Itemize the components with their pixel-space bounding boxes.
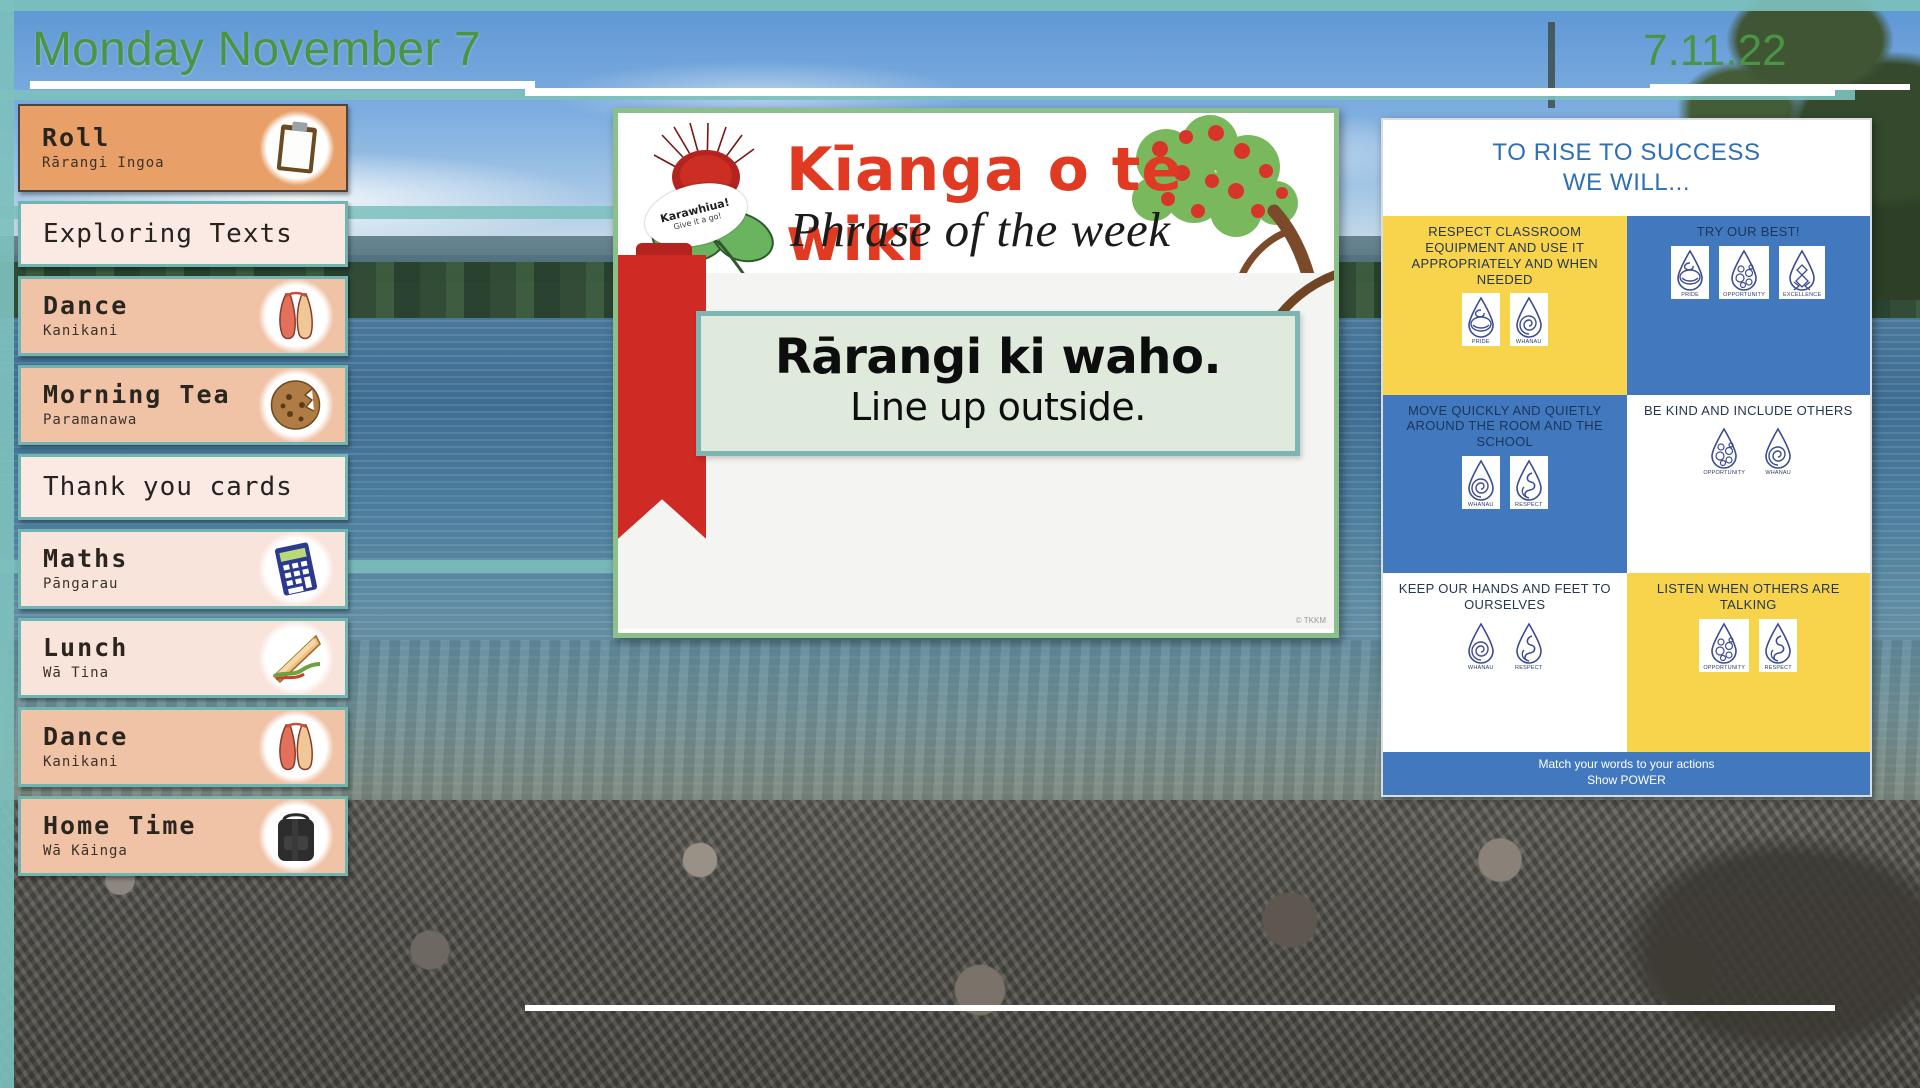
- droplet-value-label: WHANAU: [1516, 339, 1542, 345]
- slide-title-english: Phrase of the week: [790, 201, 1170, 258]
- schedule-item-label-maori: Paramanawa: [43, 412, 253, 428]
- poster-expectation-cell: RESPECT CLASSROOM EQUIPMENT AND USE IT A…: [1383, 216, 1627, 395]
- page-title-date-long: Monday November 7: [32, 22, 481, 77]
- droplet-value-label: RESPECT: [1515, 665, 1542, 671]
- schedule-item-label-english: Maths: [43, 546, 253, 572]
- poster-expectation-cell: KEEP OUR HANDS AND FEET TO OURSELVESWHAN…: [1383, 573, 1627, 752]
- poster-heading-line-2: WE WILL...: [1563, 168, 1690, 198]
- schedule-item-label: Exploring Texts: [21, 207, 303, 261]
- slide-body: Rārangi ki waho. Line up outside. © TKKM: [618, 273, 1334, 629]
- schedule-item-label-maori: Wā Tina: [43, 665, 253, 681]
- divider-title-underline: [30, 81, 535, 89]
- whanau-droplet-icon: WHANAU: [1510, 293, 1548, 346]
- frame-strip-left: [0, 0, 14, 1088]
- poster-footer-line-1: Match your words to your actions: [1383, 756, 1870, 772]
- respect-droplet-icon: RESPECT: [1759, 619, 1797, 672]
- pride-droplet-icon: PRIDE: [1671, 246, 1709, 299]
- red-banner-decoration: [618, 255, 706, 585]
- phrase-english: Line up outside.: [713, 387, 1283, 429]
- header-date-numeric: 7.11.22: [1643, 26, 1787, 76]
- poster-expectation-grid: RESPECT CLASSROOM EQUIPMENT AND USE IT A…: [1383, 216, 1870, 752]
- calculator-icon: [259, 532, 333, 606]
- schedule-item-thank-you-cards[interactable]: Thank you cards: [18, 454, 348, 520]
- schedule-item-text: DanceKanikani: [21, 283, 259, 348]
- droplet-value-label: PRIDE: [1681, 292, 1699, 298]
- poster-expectation-cell: LISTEN WHEN OTHERS ARE TALKINGOPPORTUNIT…: [1627, 573, 1871, 752]
- divider-top: [525, 88, 1835, 96]
- poster-footer: Match your words to your actions Show PO…: [1383, 752, 1870, 795]
- droplet-value-label: EXCELLENCE: [1783, 292, 1821, 298]
- daily-schedule-list: RollRārangi IngoaExploring TextsDanceKan…: [18, 104, 348, 885]
- poster-footer-line-2: Show POWER: [1383, 772, 1870, 788]
- schedule-item-label-maori: Kanikani: [43, 754, 253, 770]
- schedule-item-maths[interactable]: MathsPāngarau: [18, 529, 348, 609]
- whanau-droplet-icon: WHANAU: [1759, 424, 1797, 477]
- clipboard-icon: [260, 111, 334, 185]
- droplet-value-label: OPPORTUNITY: [1703, 665, 1745, 671]
- droplet-value-label: RESPECT: [1515, 502, 1542, 508]
- divider-date-underline: [1650, 84, 1910, 90]
- schedule-item-dance[interactable]: DanceKanikani: [18, 276, 348, 356]
- schedule-item-label-english: Dance: [43, 293, 253, 319]
- schedule-item-text: DanceKanikani: [21, 714, 259, 779]
- droplet-value-label: OPPORTUNITY: [1703, 470, 1745, 476]
- phrase-display-box: Rārangi ki waho. Line up outside.: [696, 311, 1300, 456]
- schedule-item-label-english: Lunch: [43, 635, 253, 661]
- schedule-item-label-maori: Pāngarau: [43, 576, 253, 592]
- schedule-item-text: RollRārangi Ingoa: [20, 115, 260, 180]
- schedule-item-label-maori: Rārangi Ingoa: [42, 155, 254, 171]
- opportunity-droplet-icon: OPPORTUNITY: [1699, 619, 1749, 672]
- schedule-item-text: Morning TeaParamanawa: [21, 372, 259, 437]
- sandwich-icon: [259, 621, 333, 695]
- poster-expectation-cell: MOVE QUICKLY AND QUIETLY AROUND THE ROOM…: [1383, 395, 1627, 574]
- whanau-droplet-icon: WHANAU: [1462, 456, 1500, 509]
- droplet-value-label: WHANAU: [1765, 470, 1791, 476]
- cookie-icon: [259, 368, 333, 442]
- opportunity-droplet-icon: OPPORTUNITY: [1699, 424, 1749, 477]
- poster-heading-line-1: TO RISE TO SUCCESS: [1492, 138, 1760, 168]
- schedule-item-text: LunchWā Tina: [21, 625, 259, 690]
- poster-heading: TO RISE TO SUCCESS WE WILL...: [1383, 120, 1870, 216]
- schedule-item-exploring-texts[interactable]: Exploring Texts: [18, 201, 348, 267]
- backpack-icon: [259, 799, 333, 873]
- respect-droplet-icon: RESPECT: [1510, 456, 1548, 509]
- schedule-item-label-maori: Kanikani: [43, 323, 253, 339]
- poster-expectation-cell: TRY OUR BEST!PRIDEOPPORTUNITYEXCELLENCE: [1627, 216, 1871, 395]
- poster-expectation-text: LISTEN WHEN OTHERS ARE TALKING: [1633, 581, 1865, 613]
- background-large-rock: [1590, 796, 1920, 1088]
- schedule-item-text: MathsPāngarau: [21, 536, 259, 601]
- schedule-item-label-english: Morning Tea: [43, 382, 253, 408]
- poster-value-droplets: OPPORTUNITYWHANAU: [1699, 424, 1797, 477]
- schedule-item-roll[interactable]: RollRārangi Ingoa: [18, 104, 348, 192]
- schedule-item-morning-tea[interactable]: Morning TeaParamanawa: [18, 365, 348, 445]
- schedule-item-dance[interactable]: DanceKanikani: [18, 707, 348, 787]
- ballet-shoes-icon: [259, 710, 333, 784]
- respect-droplet-icon: RESPECT: [1510, 619, 1548, 672]
- droplet-value-label: RESPECT: [1764, 665, 1791, 671]
- schedule-item-label-maori: Wā Kāinga: [43, 843, 253, 859]
- poster-expectation-text: RESPECT CLASSROOM EQUIPMENT AND USE IT A…: [1389, 224, 1621, 287]
- poster-value-droplets: PRIDEWHANAU: [1462, 293, 1548, 346]
- schedule-item-label-english: Home Time: [43, 813, 253, 839]
- phrase-of-the-week-slide[interactable]: Karawhiua! Give it a go! Kī: [613, 108, 1339, 638]
- slide-header: Karawhiua! Give it a go! Kī: [618, 113, 1334, 273]
- poster-expectation-text: TRY OUR BEST!: [1697, 224, 1800, 240]
- droplet-value-label: OPPORTUNITY: [1723, 292, 1765, 298]
- schedule-item-home-time[interactable]: Home TimeWā Kāinga: [18, 796, 348, 876]
- schedule-item-text: Home TimeWā Kāinga: [21, 803, 259, 868]
- poster-expectation-text: BE KIND AND INCLUDE OTHERS: [1644, 403, 1853, 419]
- droplet-value-label: PRIDE: [1472, 339, 1490, 345]
- school-values-poster: TO RISE TO SUCCESS WE WILL... RESPECT CL…: [1381, 118, 1872, 797]
- poster-value-droplets: WHANAURESPECT: [1462, 619, 1548, 672]
- poster-value-droplets: PRIDEOPPORTUNITYEXCELLENCE: [1671, 246, 1825, 299]
- phrase-maori: Rārangi ki waho.: [713, 332, 1283, 383]
- whanau-droplet-icon: WHANAU: [1462, 619, 1500, 672]
- excellence-droplet-icon: EXCELLENCE: [1779, 246, 1825, 299]
- poster-value-droplets: OPPORTUNITYRESPECT: [1699, 619, 1797, 672]
- poster-expectation-text: KEEP OUR HANDS AND FEET TO OURSELVES: [1389, 581, 1621, 613]
- opportunity-droplet-icon: OPPORTUNITY: [1719, 246, 1769, 299]
- pride-droplet-icon: PRIDE: [1462, 293, 1500, 346]
- poster-expectation-cell: BE KIND AND INCLUDE OTHERSOPPORTUNITYWHA…: [1627, 395, 1871, 574]
- schedule-item-label-english: Dance: [43, 724, 253, 750]
- frame-strip-top: [0, 0, 1920, 11]
- poster-value-droplets: WHANAURESPECT: [1462, 456, 1548, 509]
- poster-expectation-text: MOVE QUICKLY AND QUIETLY AROUND THE ROOM…: [1389, 403, 1621, 451]
- ballet-shoes-icon: [259, 279, 333, 353]
- droplet-value-label: WHANAU: [1468, 665, 1494, 671]
- schedule-item-label-english: Roll: [42, 125, 254, 151]
- slide-credit: © TKKM: [1296, 616, 1326, 625]
- schedule-item-label: Thank you cards: [21, 460, 303, 514]
- schedule-item-lunch[interactable]: LunchWā Tina: [18, 618, 348, 698]
- divider-bottom: [525, 1005, 1835, 1011]
- droplet-value-label: WHANAU: [1468, 502, 1494, 508]
